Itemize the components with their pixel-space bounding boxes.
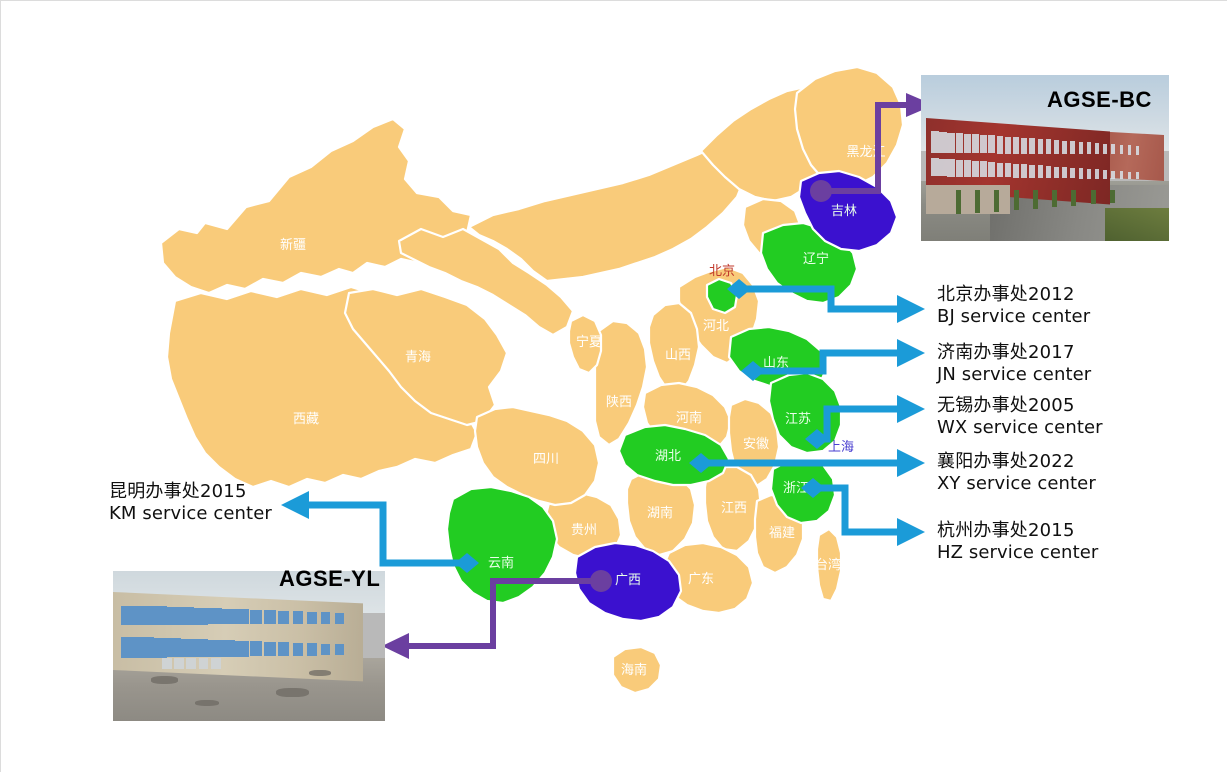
yl-window: [207, 640, 222, 657]
callout-jn-en: JN service center: [937, 364, 1091, 386]
bc-window: [1021, 138, 1027, 154]
callout-xy-en: XY service center: [937, 473, 1096, 495]
callout-km-en: KM service center: [109, 503, 272, 525]
callout-km: 昆明办事处2015KM service center: [109, 481, 272, 525]
yl-window: [235, 609, 248, 624]
bc-window: [1095, 169, 1099, 178]
bc-window: [1136, 146, 1139, 155]
bc-window: [1046, 139, 1051, 153]
yl-window: [278, 642, 289, 656]
callout-hz-cn: 杭州办事处2015: [937, 520, 1098, 542]
bc-window: [980, 135, 987, 154]
bc-tree: [1091, 190, 1096, 205]
bc-grass: [1105, 208, 1169, 241]
callout-hz-en: HZ service center: [937, 542, 1098, 564]
bc-window: [988, 135, 995, 153]
yl-ground-patch: [309, 670, 331, 676]
callout-wx-en: WX service center: [937, 417, 1103, 439]
yl-window: [307, 643, 317, 655]
yl-window: [335, 644, 343, 655]
bc-window: [1079, 168, 1083, 178]
bc-window: [1087, 142, 1091, 154]
callout-hz: 杭州办事处2015HZ service center: [937, 520, 1098, 564]
province-shaanxi: [595, 321, 647, 445]
callout-xy: 襄阳办事处2022XY service center: [937, 451, 1096, 495]
bc-window: [997, 163, 1003, 178]
yl-ac-unit: [186, 658, 196, 669]
bc-window: [956, 160, 963, 177]
bc-window: [980, 161, 987, 177]
callout-jn: 济南办事处2017JN service center: [937, 342, 1091, 386]
province-beijing-highlight: [707, 279, 737, 313]
photo-caption-agse-yl: AGSE-YL: [279, 566, 380, 592]
bc-window: [1029, 165, 1035, 178]
bc-window: [1013, 164, 1019, 178]
yl-window: [264, 610, 276, 624]
yl-ac-unit: [174, 658, 184, 669]
bc-tree: [994, 190, 999, 212]
yl-ground-patch: [195, 700, 219, 706]
province-shanxi: [649, 303, 699, 393]
callout-jn-cn: 济南办事处2017: [937, 342, 1091, 364]
callout-bj: 北京办事处2012BJ service center: [937, 284, 1090, 328]
bc-window: [988, 162, 995, 177]
yl-ac-unit: [211, 658, 221, 669]
callout-xy-cn: 襄阳办事处2022: [937, 451, 1096, 473]
bc-window: [972, 134, 979, 153]
bc-window: [972, 161, 979, 177]
province-taiwan: [817, 529, 841, 601]
yl-window: [321, 644, 330, 656]
yl-window: [293, 611, 303, 624]
callout-wx-cn: 无锡办事处2005: [937, 395, 1103, 417]
bc-window: [1070, 168, 1075, 179]
yl-window: [193, 608, 208, 625]
bc-window: [964, 160, 971, 176]
bc-window: [931, 131, 939, 153]
photo-caption-agse-bc: AGSE-BC: [1047, 87, 1152, 113]
bc-tree: [975, 190, 980, 213]
bc-window: [1054, 167, 1059, 179]
bc-window: [1062, 167, 1067, 178]
bc-window: [939, 159, 947, 177]
bc-tree: [1014, 190, 1019, 210]
yl-window: [207, 608, 222, 624]
bc-window: [1120, 171, 1123, 179]
bc-window: [1021, 164, 1027, 177]
bc-window: [1136, 172, 1139, 179]
bc-tree: [1033, 190, 1038, 209]
slide-canvas: 新疆西藏青海甘肃内蒙古宁夏陕西山西河北河南四川湖北安徽江苏浙江江西湖南贵州云南广…: [0, 0, 1227, 772]
yl-ac-unit: [199, 658, 209, 669]
bc-tree: [1071, 190, 1076, 206]
bc-window: [1103, 170, 1107, 179]
bc-window: [1128, 172, 1131, 180]
bc-window: [1095, 143, 1099, 154]
bc-window: [947, 133, 955, 154]
yl-window: [335, 613, 343, 624]
bc-window: [1005, 137, 1011, 154]
bc-window: [1005, 163, 1011, 177]
bc-window: [956, 133, 963, 153]
photo-agse-yl: [113, 571, 385, 721]
bc-tree: [1052, 190, 1057, 208]
yl-window: [250, 641, 263, 656]
callout-km-cn: 昆明办事处2015: [109, 481, 272, 503]
yl-window: [235, 641, 248, 657]
province-yunnan-highlight: [447, 487, 557, 603]
bc-window: [939, 132, 947, 153]
bc-window: [1054, 140, 1059, 154]
bc-window: [1128, 145, 1131, 154]
bc-window: [1013, 137, 1019, 153]
bc-window: [997, 136, 1003, 153]
bc-tree: [1110, 190, 1115, 203]
yl-ground-patch: [151, 676, 178, 684]
bc-tree: [956, 190, 961, 215]
callout-bj-en: BJ service center: [937, 306, 1090, 328]
bc-window: [1120, 145, 1123, 155]
yl-window: [321, 612, 330, 624]
province-hainan: [613, 647, 661, 693]
yl-ac-unit: [162, 658, 172, 669]
yl-window: [250, 610, 263, 624]
bc-window: [1062, 141, 1067, 154]
bc-window: [947, 159, 955, 176]
yl-window: [307, 612, 317, 624]
bc-window: [1070, 141, 1075, 154]
yl-window: [221, 609, 235, 625]
bc-window: [1038, 139, 1043, 154]
bc-window: [1103, 144, 1107, 155]
bc-window: [964, 134, 971, 154]
province-ningxia: [569, 315, 601, 373]
province-label-gansu: 甘肃: [419, 273, 445, 288]
bc-window: [1111, 171, 1115, 179]
callout-wx: 无锡办事处2005WX service center: [937, 395, 1103, 439]
bc-window: [1046, 166, 1051, 178]
yl-window: [264, 642, 276, 656]
bc-window: [1111, 144, 1115, 154]
province-xinjiang: [161, 119, 471, 293]
yl-ground-patch: [276, 688, 309, 697]
province-guangxi-highlight: [575, 543, 681, 621]
province-jiangsu-highlight: [769, 373, 841, 453]
bc-window: [1079, 142, 1083, 154]
bc-window: [931, 158, 939, 176]
yl-window: [278, 611, 289, 624]
bc-window: [1038, 165, 1043, 177]
bc-window: [1087, 169, 1091, 179]
yl-window: [293, 643, 303, 656]
yl-window: [221, 640, 235, 656]
bc-window: [1029, 138, 1035, 153]
yl-window: [193, 639, 208, 657]
callout-bj-cn: 北京办事处2012: [937, 284, 1090, 306]
